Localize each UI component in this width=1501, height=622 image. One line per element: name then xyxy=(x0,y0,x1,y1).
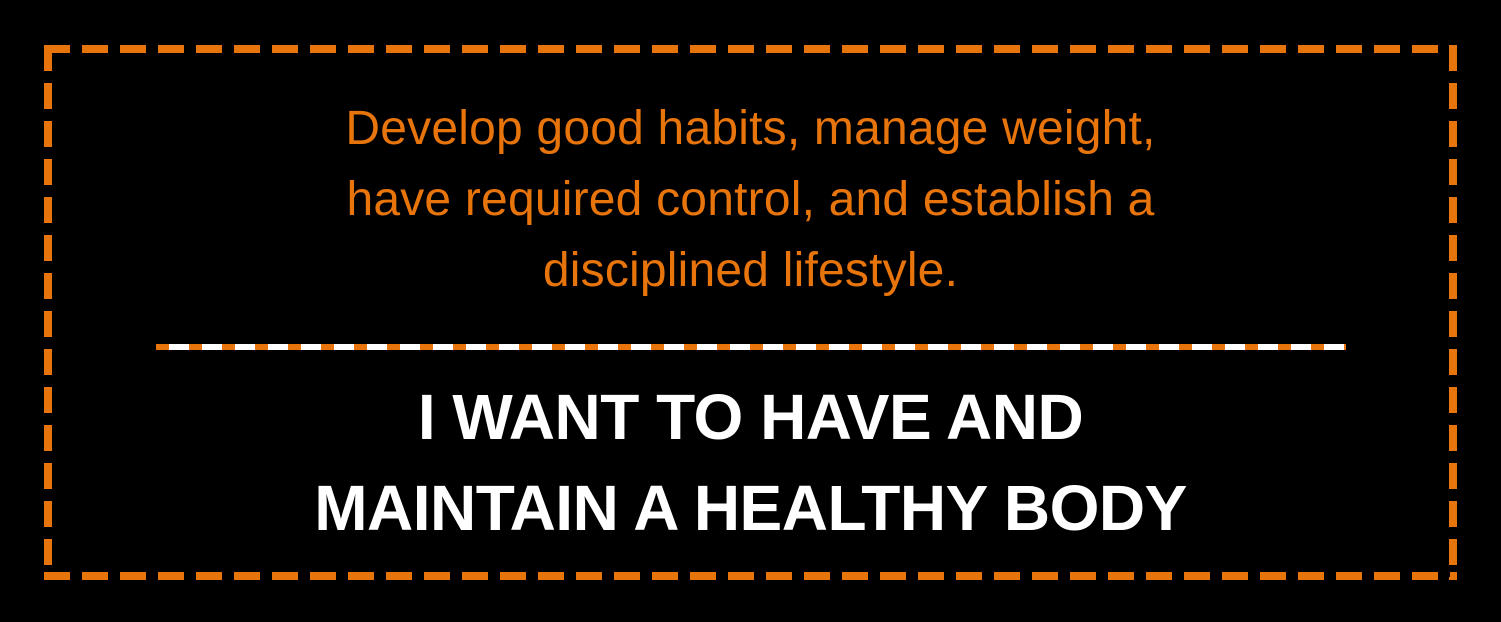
dashed-divider xyxy=(156,344,1346,350)
headline-text: I WANT TO HAVE AND MAINTAIN A HEALTHY BO… xyxy=(44,350,1457,554)
card-content: Develop good habits, manage weight, have… xyxy=(44,45,1457,580)
divider-white-dashes xyxy=(156,344,1346,350)
quote-text: Develop good habits, manage weight, have… xyxy=(44,45,1457,306)
goal-card: Develop good habits, manage weight, have… xyxy=(0,0,1501,622)
